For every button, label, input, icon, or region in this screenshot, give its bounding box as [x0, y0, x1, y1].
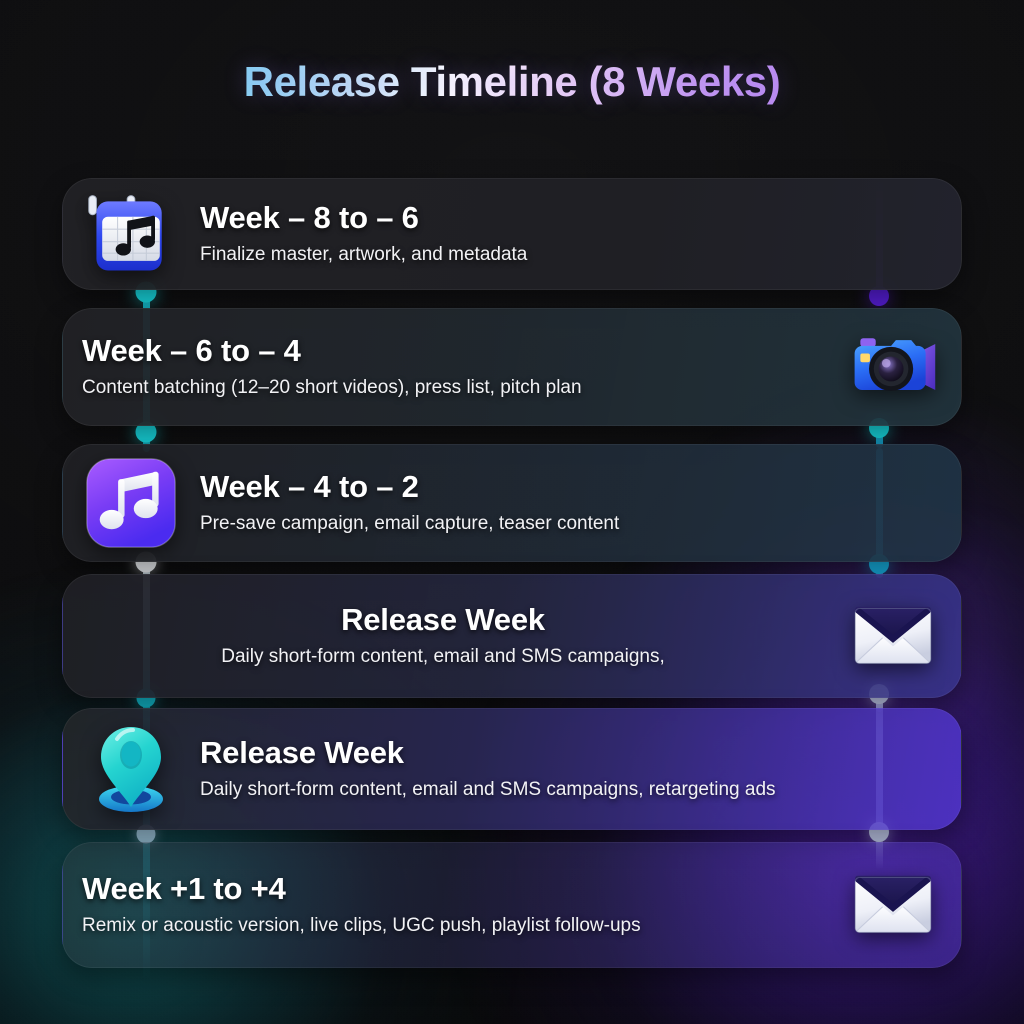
card-description: Daily short-form content, email and SMS … — [200, 778, 840, 803]
card-title: Week – 6 to – 4 — [82, 333, 804, 369]
card-text: Week +1 to +4 Remix or acoustic version,… — [62, 871, 824, 939]
card-title: Week +1 to +4 — [82, 871, 804, 907]
timeline-card-week-minus-8-to-minus-6[interactable]: Week – 8 to – 6 Finalize master, artwork… — [62, 178, 962, 290]
card-description: Remix or acoustic version, live clips, U… — [82, 914, 722, 939]
timeline-card-release-week-a[interactable]: Release Week Daily short-form content, e… — [62, 574, 962, 698]
card-text: Week – 4 to – 2 Pre-save campaign, email… — [200, 469, 962, 537]
card-icon-slot — [824, 862, 962, 948]
timeline-card-release-week-b[interactable]: Release Week Daily short-form content, e… — [62, 708, 962, 830]
card-title: Week – 8 to – 6 — [200, 200, 942, 236]
envelope-icon — [843, 862, 943, 948]
card-title: Release Week — [82, 602, 804, 638]
card-title: Week – 4 to – 2 — [200, 469, 942, 505]
music-note-app-icon — [85, 457, 177, 549]
video-camera-icon — [840, 319, 946, 415]
timeline-card-week-minus-4-to-minus-2[interactable]: Week – 4 to – 2 Pre-save campaign, email… — [62, 444, 962, 562]
card-icon-slot — [62, 719, 200, 819]
card-text: Week – 8 to – 6 Finalize master, artwork… — [200, 200, 962, 268]
card-text: Release Week Daily short-form content, e… — [200, 735, 962, 803]
page-title: Release Timeline (8 Weeks) — [0, 58, 1024, 106]
location-pin-icon — [81, 719, 181, 819]
card-text: Release Week Daily short-form content, e… — [62, 602, 824, 670]
envelope-icon — [843, 593, 943, 679]
card-icon-slot — [62, 186, 200, 282]
card-icon-slot — [62, 457, 200, 549]
card-description: Content batching (12–20 short videos), p… — [82, 376, 722, 401]
timeline-infographic: Release Timeline (8 Weeks) — [0, 0, 1024, 1024]
card-icon-slot — [824, 319, 962, 415]
timeline-card-week-plus-1-to-plus-4[interactable]: Week +1 to +4 Remix or acoustic version,… — [62, 842, 962, 968]
card-description: Pre-save campaign, email capture, teaser… — [200, 512, 840, 537]
card-description: Daily short-form content, email and SMS … — [82, 645, 804, 670]
calendar-music-icon — [83, 186, 179, 282]
timeline-card-week-minus-6-to-minus-4[interactable]: Week – 6 to – 4 Content batching (12–20 … — [62, 308, 962, 426]
card-title: Release Week — [200, 735, 942, 771]
card-icon-slot — [824, 593, 962, 679]
card-text: Week – 6 to – 4 Content batching (12–20 … — [62, 333, 824, 401]
card-description: Finalize master, artwork, and metadata — [200, 243, 840, 268]
